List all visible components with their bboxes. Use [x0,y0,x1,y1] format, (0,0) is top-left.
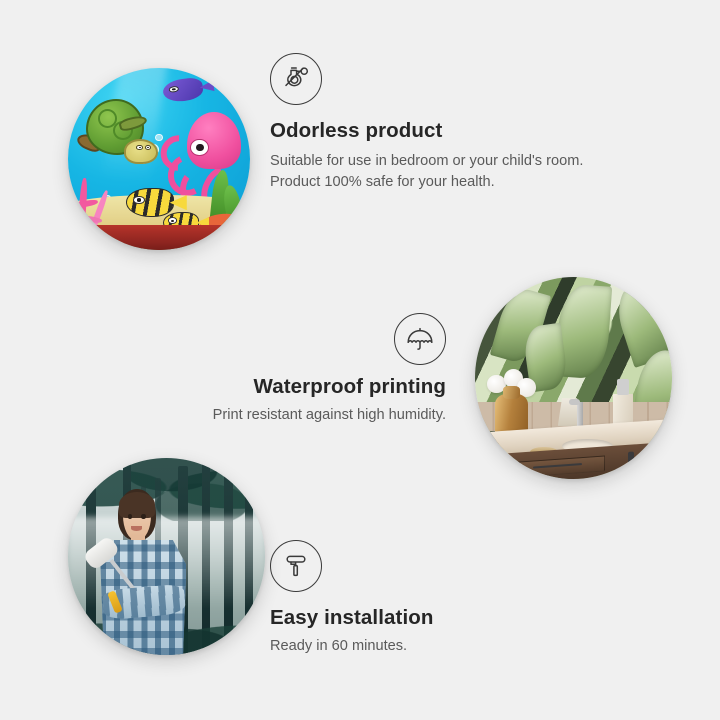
red-furniture-strip [68,225,250,250]
paint-roller-icon [270,540,322,592]
feature-description: Suitable for use in bedroom or your chil… [270,151,610,192]
feature-title: Odorless product [270,119,610,143]
underwater-cartoon-mural-photo [68,68,250,250]
woman-paint-roller-forest-photo [68,458,265,655]
woman-with-paint-roller [92,486,202,655]
green-sea-turtle [81,97,165,170]
umbrella-icon [394,313,446,365]
bathroom-scene [475,277,672,479]
feature-odorless: Odorless product Suitable for use in bed… [270,53,610,193]
feature-description: Ready in 60 minutes. [270,636,600,657]
feature-highlights-canvas: Odorless product Suitable for use in bed… [0,0,720,720]
bathroom-vanity-leaf-wallpaper-photo [475,277,672,479]
forest-scene [68,458,265,655]
no-odor-spray-bottle-icon [270,53,322,105]
feature-title: Waterproof printing [100,375,446,399]
ocean-scene [68,68,250,250]
feature-description: Print resistant against high humidity. [100,405,446,426]
feature-easy-installation: Easy installation Ready in 60 minutes. [270,540,600,657]
feature-waterproof: Waterproof printing Print resistant agai… [100,313,446,426]
feature-title: Easy installation [270,606,600,630]
